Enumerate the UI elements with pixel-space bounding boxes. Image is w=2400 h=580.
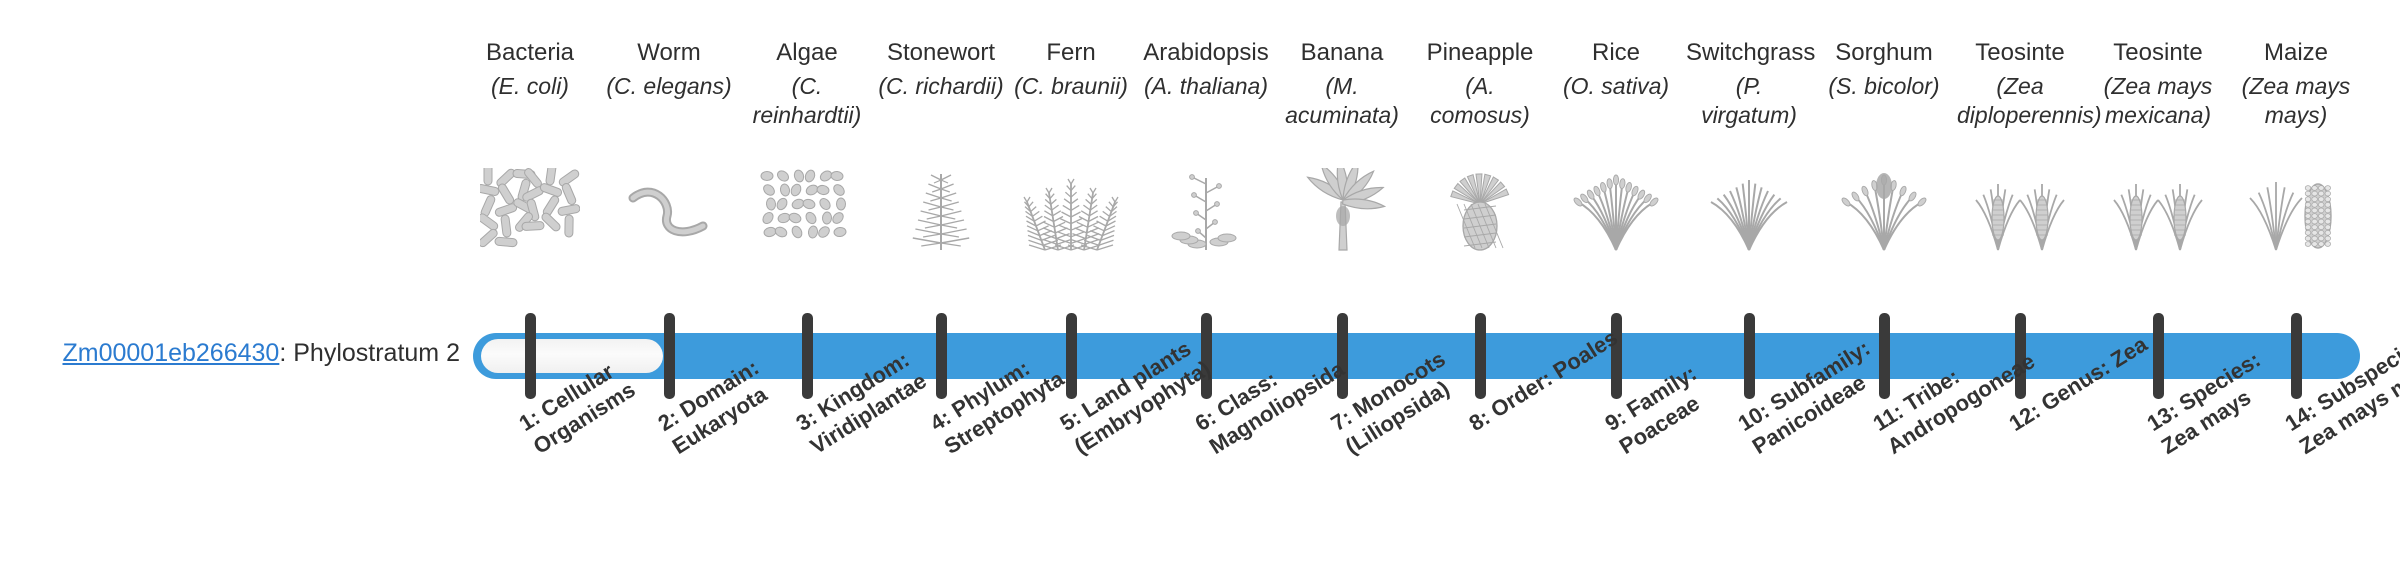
species-scientific-name: (M. acuminata) <box>1279 72 1405 130</box>
species-scientific-name: (O. sativa) <box>1553 72 1679 101</box>
species-common-name: Worm <box>606 38 732 68</box>
phylostratum-number: 12: <box>2005 398 2045 436</box>
species-common-name: Pineapple <box>1417 38 1543 68</box>
species-scientific-name: (C. elegans) <box>606 72 732 101</box>
fern-icon <box>1008 168 1134 254</box>
species-scientific-name: (C. reinhardtii) <box>744 72 870 130</box>
gene-id-link[interactable]: Zm00001eb266430 <box>62 339 279 367</box>
arabidopsis-icon <box>1143 168 1269 254</box>
phylostratum-tick[interactable] <box>2153 313 2164 399</box>
species-column: Arabidopsis(A. thaliana) <box>1143 38 1269 101</box>
species-common-name: Banana <box>1279 38 1405 68</box>
species-common-name: Fern <box>1008 38 1134 68</box>
bacteria-icon <box>467 168 593 254</box>
species-column: Pineapple(A. comosus) <box>1417 38 1543 130</box>
species-scientific-name: (Zea diploperennis) <box>1957 72 2083 130</box>
gene-label-separator: : <box>279 339 293 367</box>
species-column: Stonewort(C. richardii) <box>878 38 1004 101</box>
algae-icon <box>744 168 870 254</box>
phylostratum-tick[interactable] <box>1611 313 1622 399</box>
phylostratum-value: Phylostratum 2 <box>293 339 460 367</box>
species-scientific-name: (Zea mays mexicana) <box>2095 72 2221 130</box>
species-scientific-name: (S. bicolor) <box>1821 72 1947 101</box>
teosinte-mexicana-icon <box>2095 168 2221 254</box>
species-scientific-name: (E. coli) <box>467 72 593 101</box>
gene-phylostratum-label: Zm00001eb266430: Phylostratum 2 <box>40 340 460 368</box>
species-common-name: Arabidopsis <box>1143 38 1269 68</box>
species-common-name: Bacteria <box>467 38 593 68</box>
phylostratum-number: 8: <box>1465 404 1495 436</box>
species-scientific-name: (C. braunii) <box>1008 72 1134 101</box>
species-common-name: Rice <box>1553 38 1679 68</box>
phylostratum-tick[interactable] <box>525 313 536 399</box>
species-common-name: Maize <box>2233 38 2359 68</box>
sorghum-icon <box>1821 168 1947 254</box>
species-scientific-name: (C. richardii) <box>878 72 1004 101</box>
species-column: Fern(C. braunii) <box>1008 38 1134 101</box>
species-column: Rice(O. sativa) <box>1553 38 1679 101</box>
maize-icon <box>2233 168 2359 254</box>
species-column: Worm(C. elegans) <box>606 38 732 101</box>
species-column: Algae(C. reinhardtii) <box>744 38 870 130</box>
species-common-name: Switchgrass <box>1686 38 1812 68</box>
phylostratum-chart: Zm00001eb266430: Phylostratum 2 Bacteria… <box>0 0 2400 580</box>
species-scientific-name: (A. thaliana) <box>1143 72 1269 101</box>
species-column: Maize(Zea mays mays) <box>2233 38 2359 130</box>
species-common-name: Stonewort <box>878 38 1004 68</box>
stonewort-icon <box>878 168 1004 254</box>
species-column: Banana(M. acuminata) <box>1279 38 1405 130</box>
species-column: Sorghum(S. bicolor) <box>1821 38 1947 101</box>
species-column: Teosinte(Zea mays mexicana) <box>2095 38 2221 130</box>
banana-icon <box>1279 168 1405 254</box>
switchgrass-icon <box>1686 168 1812 254</box>
species-column: Switchgrass(P. virgatum) <box>1686 38 1812 130</box>
species-common-name: Teosinte <box>1957 38 2083 68</box>
species-common-name: Sorghum <box>1821 38 1947 68</box>
species-column: Bacteria(E. coli) <box>467 38 593 101</box>
species-scientific-name: (A. comosus) <box>1417 72 1543 130</box>
species-common-name: Algae <box>744 38 870 68</box>
teosinte-diploperennis-icon <box>1957 168 2083 254</box>
species-scientific-name: (P. virgatum) <box>1686 72 1812 130</box>
rice-icon <box>1553 168 1679 254</box>
species-common-name: Teosinte <box>2095 38 2221 68</box>
species-column: Teosinte(Zea diploperennis) <box>1957 38 2083 130</box>
worm-icon <box>606 168 732 254</box>
species-scientific-name: (Zea mays mays) <box>2233 72 2359 130</box>
pineapple-icon <box>1417 168 1543 254</box>
